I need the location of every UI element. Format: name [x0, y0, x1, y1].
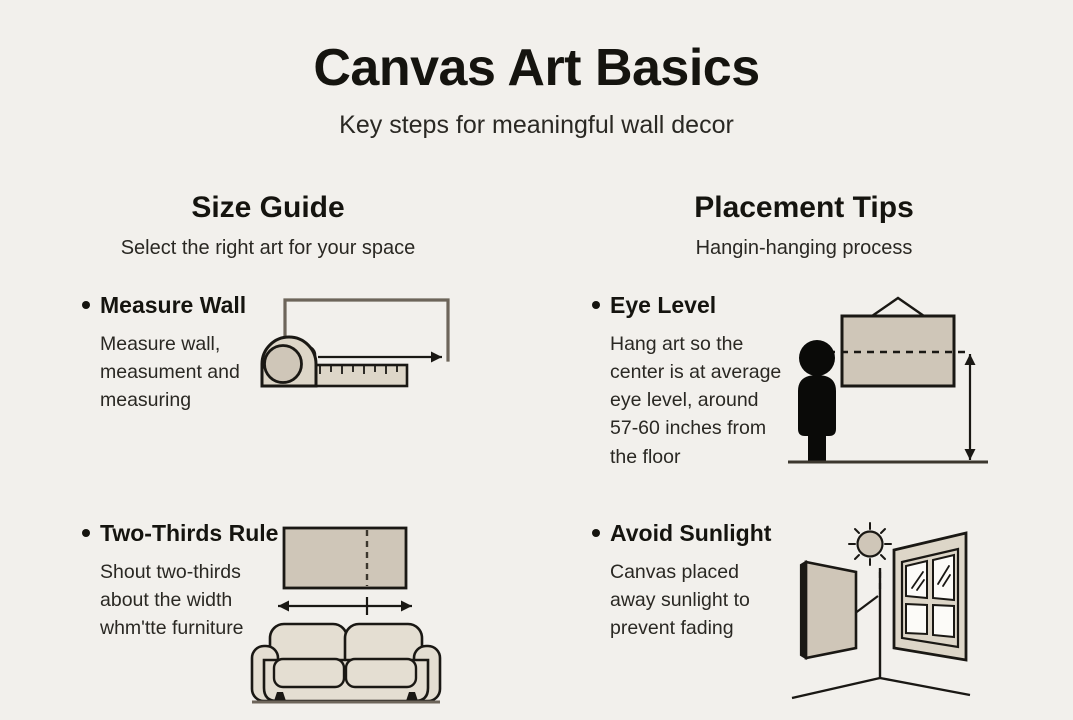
column-size-guide: Size Guide Select the right art for your…: [0, 190, 536, 716]
list-item-eye-level: Eye Level Hang art so the center is at a…: [536, 292, 1072, 488]
bullet-icon: [82, 529, 90, 537]
column-title: Size Guide: [0, 190, 536, 226]
bullet-icon: [82, 301, 90, 309]
column-title: Placement Tips: [536, 190, 1072, 226]
page-title: Canvas Art Basics: [0, 40, 1073, 96]
illustration-sun-window-canvas: [784, 520, 999, 705]
item-title: Eye Level: [610, 292, 716, 320]
page-subtitle: Key steps for meaningful wall decor: [0, 110, 1073, 140]
column-header-placement-tips: Placement Tips Hangin-hanging process: [536, 190, 1072, 260]
list-item-two-thirds-rule: Two-Thirds Rule Shout two-thirds about t…: [0, 520, 536, 716]
infographic-page: Canvas Art Basics Key steps for meaningf…: [0, 0, 1073, 720]
bullet-icon: [592, 301, 600, 309]
column-subtitle: Select the right art for your space: [0, 236, 536, 260]
illustration-person-eye-level: [784, 292, 999, 472]
column-header-size-guide: Size Guide Select the right art for your…: [0, 190, 536, 260]
column-subtitle: Hangin-hanging process: [536, 236, 1072, 260]
illustration-tape-measure-wall: [250, 292, 465, 422]
list-item-measure-wall: Measure Wall Measure wall, measument and…: [0, 292, 536, 488]
item-title: Measure Wall: [100, 292, 246, 320]
column-placement-tips: Placement Tips Hangin-hanging process Ey…: [536, 190, 1072, 716]
illustration-sofa-canvas-width: [250, 520, 465, 705]
item-title: Avoid Sunlight: [610, 520, 771, 548]
content-columns: Size Guide Select the right art for your…: [0, 190, 1073, 716]
list-item-avoid-sunlight: Avoid Sunlight Canvas placed away sunlig…: [536, 520, 1072, 716]
bullet-icon: [592, 529, 600, 537]
header: Canvas Art Basics Key steps for meaningf…: [0, 40, 1073, 140]
